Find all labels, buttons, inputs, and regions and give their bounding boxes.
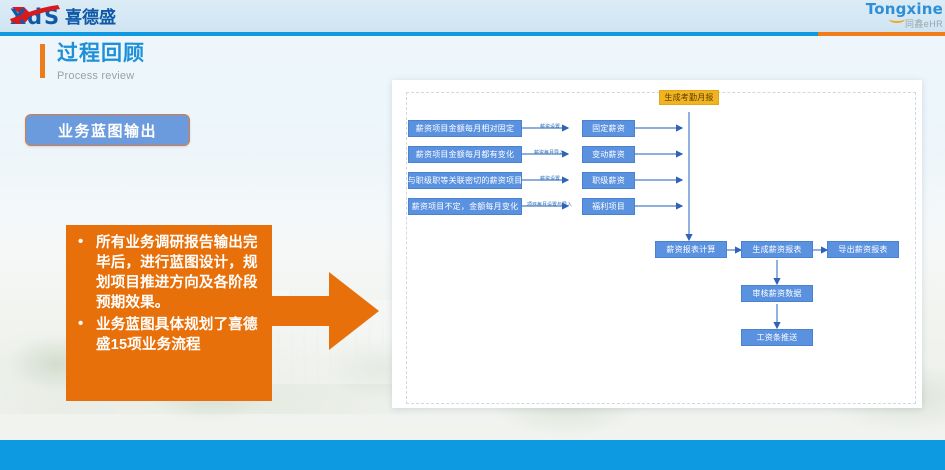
bottom-band <box>0 440 945 470</box>
title-en: Process review <box>57 69 145 83</box>
orange-right-arrow <box>255 268 381 354</box>
flow-node-category-2[interactable]: 变动薪资 <box>582 146 635 163</box>
flow-node-report-generate[interactable]: 生成薪资报表 <box>741 241 813 258</box>
flow-node-review-salary-data[interactable]: 审核薪资数据 <box>741 285 813 302</box>
callout-bullet-2: 业务蓝图具体规划了喜德盛15项业务流程 <box>72 315 264 355</box>
flow-node-condition-4[interactable]: 薪资项目不定，金额每月变化 <box>408 198 522 215</box>
flow-node-condition-2[interactable]: 薪资项目金额每月都有变化 <box>408 146 522 163</box>
flow-edge-label-3: 薪资设置 <box>540 176 560 182</box>
tongxine-swoosh-icon <box>889 15 905 23</box>
flow-node-category-3[interactable]: 职级薪资 <box>582 172 635 189</box>
flow-node-category-4[interactable]: 福利项目 <box>582 198 635 215</box>
flow-node-category-1[interactable]: 固定薪资 <box>582 120 635 137</box>
svg-text:d: d <box>27 5 41 29</box>
tongxine-logo-icon: Tongxine 同鑫eHR <box>845 2 943 32</box>
flow-node-payslip-push[interactable]: 工资条推送 <box>741 329 813 346</box>
section-pill-business-blueprint[interactable]: 业务蓝图输出 <box>25 114 190 146</box>
top-bar-rule <box>0 32 945 36</box>
flow-node-condition-3[interactable]: 与职级职等关联密切的薪资项目 <box>408 172 522 189</box>
flow-node-condition-1[interactable]: 薪资项目金额每月相对固定 <box>408 120 522 137</box>
slide-root: X d S 喜德盛 Tongxine 同鑫eHR 过程回顾 Process re… <box>0 0 945 470</box>
flow-node-report-export[interactable]: 导出薪资报表 <box>827 241 899 258</box>
svg-text:喜德盛: 喜德盛 <box>65 7 116 28</box>
flow-node-generate-attendance-report[interactable]: 生成考勤月报 <box>659 90 719 105</box>
xds-logo-icon: X d S 喜德盛 <box>8 2 178 30</box>
callout-box: 所有业务调研报告输出完毕后，进行蓝图设计，规划项目推进方向及各阶段预期效果。 业… <box>66 225 272 401</box>
flowchart-panel: 生成考勤月报 薪资项目金额每月相对固定 薪资项目金额每月都有变化 与职级职等关联… <box>392 80 922 408</box>
callout-bullet-1: 所有业务调研报告输出完毕后，进行蓝图设计，规划项目推进方向及各阶段预期效果。 <box>72 233 264 313</box>
flow-edge-label-4: 项目每月设置与导入 <box>527 202 572 208</box>
title-zh: 过程回顾 <box>57 42 145 66</box>
flowchart: 生成考勤月报 薪资项目金额每月相对固定 薪资项目金额每月都有变化 与职级职等关联… <box>392 80 922 408</box>
top-bar-rule-accent <box>818 32 945 36</box>
flow-edge-label-1: 薪资设置 <box>540 124 560 130</box>
title-accent-bar <box>40 44 45 78</box>
flow-node-report-calc[interactable]: 薪资报表计算 <box>655 241 727 258</box>
page-title: 过程回顾 Process review <box>40 42 145 83</box>
flow-edge-label-2: 薪资每月导入 <box>534 150 564 156</box>
